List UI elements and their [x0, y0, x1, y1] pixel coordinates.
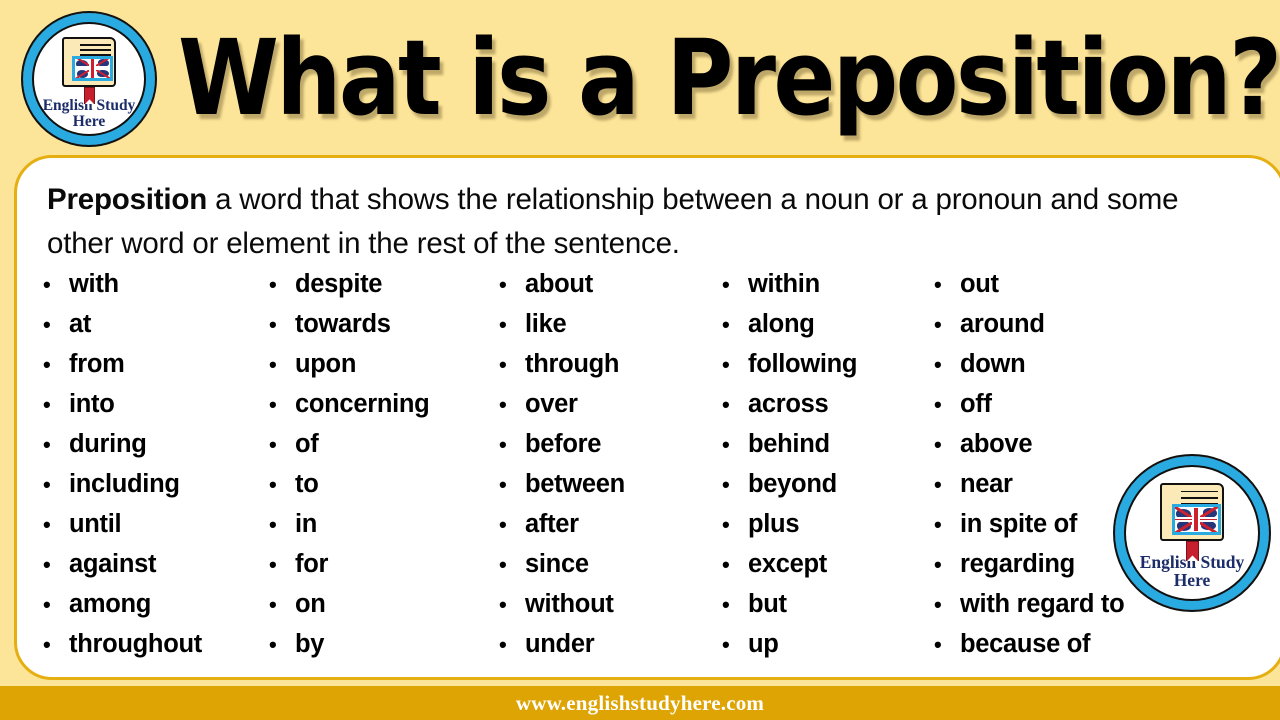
- english-study-here-watermark: English Study Here: [1113, 454, 1271, 612]
- definition-text: Preposition a word that shows the relati…: [47, 178, 1212, 266]
- website-url[interactable]: www.englishstudyhere.com: [516, 691, 764, 716]
- bullet-icon: •: [934, 394, 960, 416]
- bullet-icon: •: [499, 314, 525, 336]
- bullet-icon: •: [934, 634, 960, 656]
- list-item[interactable]: •without: [499, 590, 722, 630]
- list-item[interactable]: •up: [722, 630, 934, 670]
- bullet-icon: •: [269, 634, 295, 656]
- bullet-icon: •: [499, 434, 525, 456]
- bullet-icon: •: [722, 594, 748, 616]
- bullet-icon: •: [43, 394, 69, 416]
- bullet-icon: •: [934, 434, 960, 456]
- bullet-icon: •: [499, 274, 525, 296]
- book-icon: [62, 37, 116, 87]
- bullet-icon: •: [269, 354, 295, 376]
- bullet-icon: •: [269, 434, 295, 456]
- logo-text-line2: Here: [43, 114, 136, 130]
- bullet-icon: •: [722, 634, 748, 656]
- preposition-column-4: •within •along •following •across •behin…: [722, 270, 934, 670]
- bullet-icon: •: [499, 354, 525, 376]
- preposition-column-1: •with •at •from •into •during •including…: [43, 270, 269, 670]
- bullet-icon: •: [934, 594, 960, 616]
- list-item[interactable]: •until: [43, 510, 269, 550]
- bullet-icon: •: [269, 514, 295, 536]
- list-item[interactable]: •from: [43, 350, 269, 390]
- list-item[interactable]: •through: [499, 350, 722, 390]
- bullet-icon: •: [269, 594, 295, 616]
- bullet-icon: •: [43, 274, 69, 296]
- bullet-icon: •: [934, 354, 960, 376]
- definition-body: a word that shows the relationship betwe…: [47, 183, 1178, 260]
- bullet-icon: •: [722, 394, 748, 416]
- list-item[interactable]: •over: [499, 390, 722, 430]
- logo-text-line2: Here: [1140, 571, 1245, 589]
- ribbon-bookmark-icon: [1186, 541, 1199, 561]
- list-item[interactable]: •like: [499, 310, 722, 350]
- list-item[interactable]: •along: [722, 310, 934, 350]
- list-item[interactable]: •following: [722, 350, 934, 390]
- book-icon: [1160, 483, 1224, 541]
- list-item[interactable]: •around: [934, 310, 1234, 350]
- list-item[interactable]: •against: [43, 550, 269, 590]
- book-pages-lines: [1181, 491, 1218, 505]
- bullet-icon: •: [722, 514, 748, 536]
- content-card: Preposition a word that shows the relati…: [14, 155, 1280, 680]
- uk-flag-icon: [1172, 504, 1221, 534]
- list-item[interactable]: •concerning: [269, 390, 499, 430]
- list-item[interactable]: •under: [499, 630, 722, 670]
- list-item[interactable]: •plus: [722, 510, 934, 550]
- bullet-icon: •: [269, 554, 295, 576]
- preposition-column-3: •about •like •through •over •before •bet…: [499, 270, 722, 670]
- list-item[interactable]: •despite: [269, 270, 499, 310]
- bullet-icon: •: [722, 314, 748, 336]
- list-item[interactable]: •within: [722, 270, 934, 310]
- list-item[interactable]: •including: [43, 470, 269, 510]
- list-item[interactable]: •during: [43, 430, 269, 470]
- bullet-icon: •: [934, 274, 960, 296]
- list-item[interactable]: •between: [499, 470, 722, 510]
- page-title: What is a Preposition?: [178, 22, 1137, 134]
- list-item[interactable]: •because of: [934, 630, 1234, 670]
- bullet-icon: •: [499, 394, 525, 416]
- list-item[interactable]: •beyond: [722, 470, 934, 510]
- ribbon-bookmark-icon: [84, 87, 95, 104]
- list-item[interactable]: •among: [43, 590, 269, 630]
- bullet-icon: •: [722, 474, 748, 496]
- bullet-icon: •: [934, 314, 960, 336]
- list-item[interactable]: •except: [722, 550, 934, 590]
- bullet-icon: •: [43, 314, 69, 336]
- book-pages-lines: [80, 44, 111, 56]
- list-item[interactable]: •on: [269, 590, 499, 630]
- list-item[interactable]: •of: [269, 430, 499, 470]
- uk-flag-icon: [72, 56, 113, 82]
- preposition-list: •with •at •from •into •during •including…: [43, 270, 1263, 670]
- list-item[interactable]: •towards: [269, 310, 499, 350]
- header-banner: English Study Here What is a Preposition…: [0, 0, 1280, 158]
- bullet-icon: •: [43, 554, 69, 576]
- bullet-icon: •: [269, 394, 295, 416]
- bullet-icon: •: [499, 594, 525, 616]
- bullet-icon: •: [269, 274, 295, 296]
- english-study-here-logo: English Study Here: [21, 11, 157, 147]
- list-item[interactable]: •by: [269, 630, 499, 670]
- preposition-column-2: •despite •towards •upon •concerning •of …: [269, 270, 499, 670]
- bullet-icon: •: [934, 554, 960, 576]
- list-item[interactable]: •in: [269, 510, 499, 550]
- list-item[interactable]: •for: [269, 550, 499, 590]
- list-item[interactable]: •into: [43, 390, 269, 430]
- list-item[interactable]: •off: [934, 390, 1234, 430]
- list-item[interactable]: •since: [499, 550, 722, 590]
- bullet-icon: •: [934, 514, 960, 536]
- list-item[interactable]: •throughout: [43, 630, 269, 670]
- list-item[interactable]: •out: [934, 270, 1234, 310]
- list-item[interactable]: •but: [722, 590, 934, 630]
- bullet-icon: •: [722, 434, 748, 456]
- bullet-icon: •: [722, 554, 748, 576]
- bullet-icon: •: [499, 474, 525, 496]
- list-item[interactable]: •down: [934, 350, 1234, 390]
- list-item[interactable]: •behind: [722, 430, 934, 470]
- bullet-icon: •: [722, 354, 748, 376]
- bullet-icon: •: [43, 434, 69, 456]
- footer-bar: www.englishstudyhere.com: [0, 686, 1280, 720]
- list-item[interactable]: •to: [269, 470, 499, 510]
- bullet-icon: •: [43, 634, 69, 656]
- bullet-icon: •: [43, 354, 69, 376]
- bullet-icon: •: [722, 274, 748, 296]
- definition-lead-word: Preposition: [47, 183, 207, 216]
- bullet-icon: •: [499, 514, 525, 536]
- bullet-icon: •: [43, 594, 69, 616]
- list-item[interactable]: •before: [499, 430, 722, 470]
- list-item[interactable]: •after: [499, 510, 722, 550]
- bullet-icon: •: [43, 514, 69, 536]
- list-item[interactable]: •about: [499, 270, 722, 310]
- bullet-icon: •: [269, 474, 295, 496]
- list-item[interactable]: •upon: [269, 350, 499, 390]
- bullet-icon: •: [499, 634, 525, 656]
- list-item[interactable]: •with: [43, 270, 269, 310]
- list-item[interactable]: •across: [722, 390, 934, 430]
- bullet-icon: •: [499, 554, 525, 576]
- list-item[interactable]: •at: [43, 310, 269, 350]
- bullet-icon: •: [269, 314, 295, 336]
- bullet-icon: •: [43, 474, 69, 496]
- bullet-icon: •: [934, 474, 960, 496]
